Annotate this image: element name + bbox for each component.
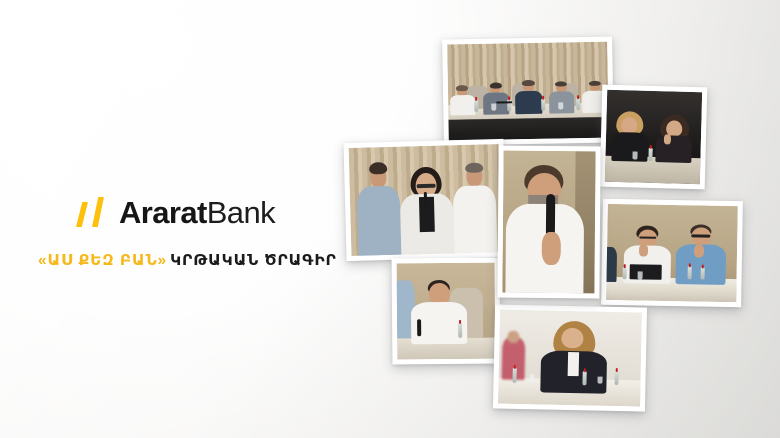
scene-panel-five-men — [447, 42, 609, 141]
scene-bearded-man-mic — [502, 151, 595, 294]
ararat-bank-logo[interactable]: AraratBank — [38, 190, 358, 234]
tagline-quoted-title: «ԱՍ ՔԵԶ ԲԱՆ» — [38, 252, 167, 269]
tagline-subtitle: ԿՐԹԱԿԱՆ ԾՐԱԳԻՐ — [170, 252, 337, 269]
photo-panel-five-men[interactable] — [442, 37, 614, 146]
scene-three-standing-speaker — [349, 144, 502, 256]
scene-two-women-dark — [605, 90, 702, 184]
brand-block: AraratBank «ԱՍ ՔԵԶ ԲԱՆ»ԿՐԹԱԿԱՆ ԾՐԱԳԻՐ — [38, 190, 358, 269]
photo-bearded-man-mic[interactable] — [497, 146, 600, 299]
ararat-bank-wordmark: AraratBank — [119, 197, 275, 228]
photo-three-standing-speaker[interactable] — [343, 139, 506, 261]
photo-two-women-dark[interactable] — [600, 85, 708, 190]
ararat-bank-promo-banner: AraratBank «ԱՍ ՔԵԶ ԲԱՆ»ԿՐԹԱԿԱՆ ԾՐԱԳԻՐ — [0, 0, 780, 438]
wordmark-ararat: Ararat — [119, 195, 207, 230]
scene-man-writing — [397, 263, 496, 360]
scene-two-men-laptop — [606, 204, 738, 302]
program-tagline: «ԱՍ ՔԵԶ ԲԱՆ»ԿՐԹԱԿԱՆ ԾՐԱԳԻՐ — [38, 253, 358, 269]
ararat-double-flame-mark-icon — [76, 197, 110, 227]
scene-woman-blazer — [498, 310, 642, 407]
photo-two-men-laptop[interactable] — [601, 199, 743, 307]
wordmark-bank: Bank — [207, 195, 275, 230]
photo-woman-blazer[interactable] — [493, 304, 647, 411]
photo-man-writing[interactable] — [392, 258, 501, 365]
